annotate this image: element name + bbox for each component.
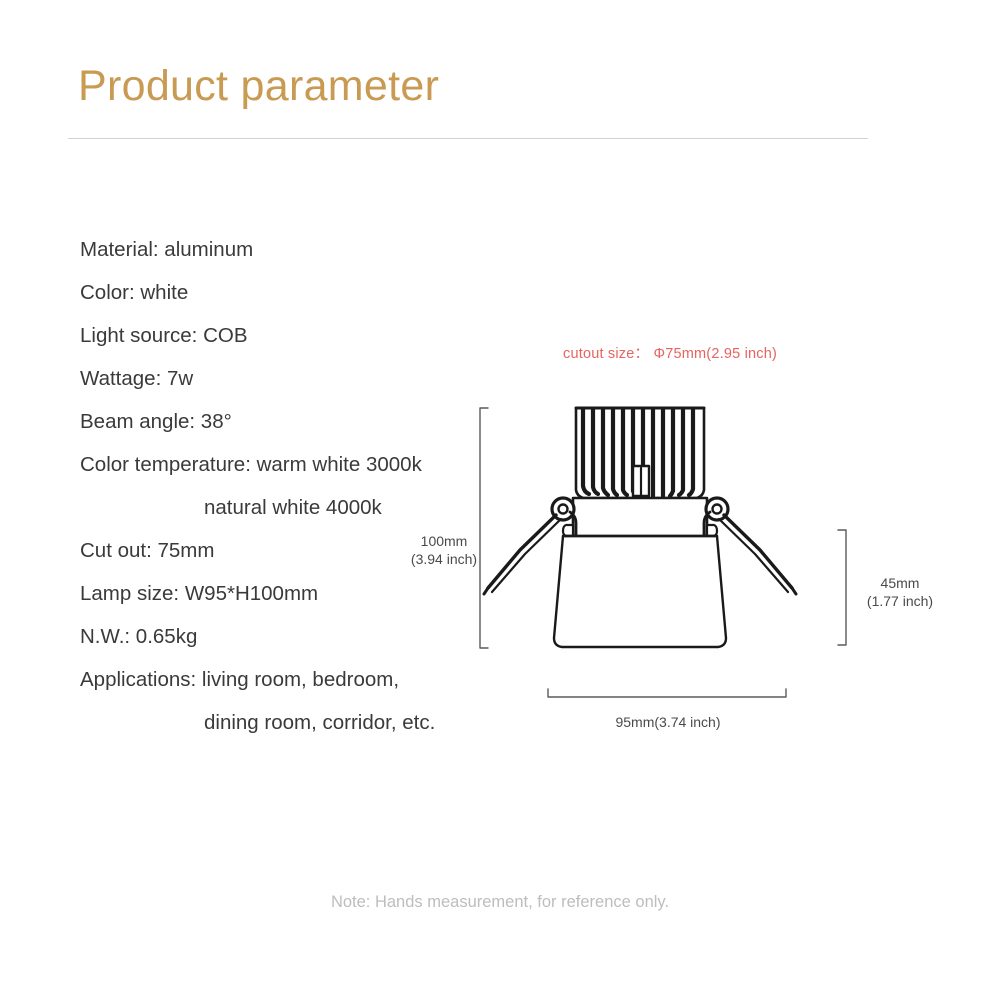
page-title: Product parameter [78, 62, 439, 111]
height-dimension-inch: (3.94 inch) [398, 550, 490, 568]
footer-note: Note: Hands measurement, for reference o… [0, 893, 1000, 912]
spec-item: Material: aluminum [80, 228, 510, 271]
height-dimension-label: 100mm (3.94 inch) [398, 532, 490, 568]
spec-item: Color: white [80, 271, 510, 314]
heatsink-fins [576, 408, 704, 498]
depth-dimension-label: 45mm (1.77 inch) [852, 574, 948, 610]
width-dimension-label: 95mm(3.74 inch) [568, 713, 768, 731]
height-dimension-mm: 100mm [398, 532, 490, 550]
depth-dimension-mm: 45mm [852, 574, 948, 592]
housing-block [563, 498, 717, 538]
product-parameter-page: Product parameter Material: aluminum Col… [0, 0, 1000, 1000]
depth-dimension-inch: (1.77 inch) [852, 592, 948, 610]
title-divider [68, 138, 868, 139]
trim-ring [554, 536, 726, 647]
